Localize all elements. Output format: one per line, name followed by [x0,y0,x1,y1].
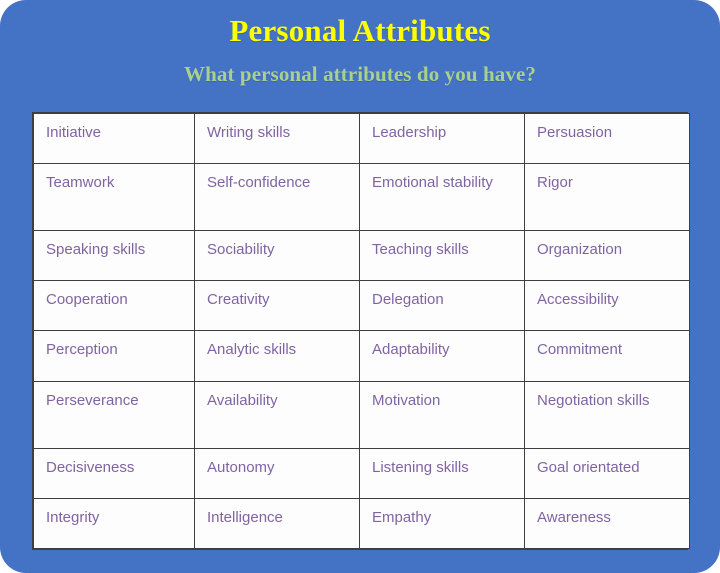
attribute-cell: Adaptability [360,331,525,381]
attribute-cell: Teamwork [34,164,195,231]
attribute-cell: Listening skills [360,448,525,498]
table-row: Speaking skillsSociabilityTeaching skill… [34,231,690,281]
attribute-cell: Persuasion [525,114,690,164]
page-subtitle: What personal attributes do you have? [0,60,720,88]
attribute-cell: Autonomy [195,448,360,498]
table-row: InitiativeWriting skillsLeadershipPersua… [34,114,690,164]
attribute-cell: Perception [34,331,195,381]
attribute-cell: Awareness [525,498,690,548]
attribute-cell: Teaching skills [360,231,525,281]
table-row: IntegrityIntelligenceEmpathyAwareness [34,498,690,548]
attributes-table-container: InitiativeWriting skillsLeadershipPersua… [32,112,688,550]
table-row: CooperationCreativityDelegationAccessibi… [34,281,690,331]
slide-header: Personal Attributes What personal attrib… [0,0,720,88]
attribute-cell: Rigor [525,164,690,231]
attribute-cell: Organization [525,231,690,281]
attribute-cell: Creativity [195,281,360,331]
attribute-cell: Emotional stability [360,164,525,231]
slide-canvas: Personal Attributes What personal attrib… [0,0,720,573]
page-title: Personal Attributes [0,12,720,50]
attribute-cell: Delegation [360,281,525,331]
table-row: PerceptionAnalytic skillsAdaptabilityCom… [34,331,690,381]
attribute-cell: Empathy [360,498,525,548]
attribute-cell: Initiative [34,114,195,164]
attribute-cell: Perseverance [34,381,195,448]
table-row: TeamworkSelf-confidenceEmotional stabili… [34,164,690,231]
attribute-cell: Goal orientated [525,448,690,498]
attribute-cell: Speaking skills [34,231,195,281]
attribute-cell: Decisiveness [34,448,195,498]
attribute-cell: Leadership [360,114,525,164]
attribute-cell: Sociability [195,231,360,281]
attribute-cell: Accessibility [525,281,690,331]
attribute-cell: Analytic skills [195,331,360,381]
attributes-table: InitiativeWriting skillsLeadershipPersua… [33,113,690,549]
attribute-cell: Integrity [34,498,195,548]
attribute-cell: Cooperation [34,281,195,331]
table-row: DecisivenessAutonomyListening skillsGoal… [34,448,690,498]
table-row: PerseveranceAvailabilityMotivationNegoti… [34,381,690,448]
attribute-cell: Commitment [525,331,690,381]
attribute-cell: Motivation [360,381,525,448]
attribute-cell: Availability [195,381,360,448]
attributes-table-body: InitiativeWriting skillsLeadershipPersua… [34,114,690,549]
attribute-cell: Negotiation skills [525,381,690,448]
attribute-cell: Writing skills [195,114,360,164]
attribute-cell: Self-confidence [195,164,360,231]
attribute-cell: Intelligence [195,498,360,548]
